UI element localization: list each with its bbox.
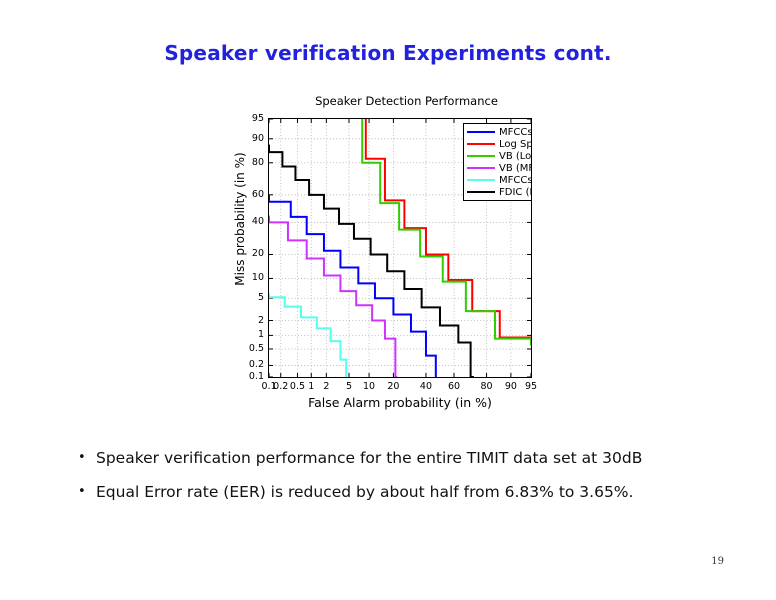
x-tick-label: 5 — [346, 381, 352, 392]
bullet-item-0: •Speaker verification performance for th… — [78, 448, 738, 468]
y-tick-label: 90 — [252, 134, 264, 144]
x-axis-tick-labels: 0.10.20.512510204060809095 — [268, 381, 532, 395]
legend-item-3: VB (MFCC) — [467, 162, 532, 174]
page-title: Speaker verification Experiments cont. — [0, 41, 776, 65]
bullet-text: Equal Error rate (EER) is reduced by abo… — [96, 482, 633, 502]
x-tick-label: 0.2 — [273, 381, 288, 392]
y-tick-label: 1 — [258, 330, 264, 340]
y-tick-label: 40 — [252, 217, 264, 227]
x-tick-label: 2 — [323, 381, 329, 392]
legend-color-swatch — [467, 143, 495, 145]
y-tick-label: 80 — [252, 158, 264, 168]
legend-color-swatch — [467, 131, 495, 133]
series-line-3 — [269, 215, 397, 377]
x-tick-label: 1 — [308, 381, 314, 392]
legend-color-swatch — [467, 179, 495, 181]
x-axis-title: False Alarm probability (in %) — [268, 395, 532, 410]
x-tick-label: 60 — [448, 381, 460, 392]
legend-item-label: MFCCs (Clean) — [499, 175, 532, 186]
bullet-list: •Speaker verification performance for th… — [78, 448, 738, 516]
x-tick-label: 40 — [420, 381, 432, 392]
chart-title: Speaker Detection Performance — [268, 94, 545, 108]
y-tick-label: 0.5 — [249, 344, 264, 354]
chart-legend: MFCCsLog SpectraVB (Log Spectra)VB (MFCC… — [463, 123, 532, 201]
y-tick-label: 2 — [258, 316, 264, 326]
legend-item-label: Log Spectra — [499, 139, 532, 150]
legend-item-4: MFCCs (Clean) — [467, 174, 532, 186]
y-tick-label: 0.2 — [249, 360, 264, 370]
legend-item-2: VB (Log Spectra) — [467, 150, 532, 162]
y-tick-label: 95 — [252, 114, 264, 124]
y-axis-tick-labels: 959080604020105210.50.20.1 — [229, 118, 264, 378]
x-tick-label: 10 — [363, 381, 375, 392]
page-number: 19 — [711, 556, 724, 567]
legend-item-0: MFCCs — [467, 126, 532, 138]
bullet-text: Speaker verification performance for the… — [96, 448, 642, 468]
legend-item-label: FDIC (MFCC) — [499, 187, 532, 198]
x-tick-label: 95 — [525, 381, 537, 392]
legend-item-1: Log Spectra — [467, 138, 532, 150]
legend-item-label: VB (MFCC) — [499, 163, 532, 174]
legend-item-5: FDIC (MFCC) — [467, 186, 532, 198]
x-tick-label: 0.5 — [290, 381, 305, 392]
bullet-item-1: •Equal Error rate (EER) is reduced by ab… — [78, 482, 738, 502]
x-tick-label: 80 — [481, 381, 493, 392]
legend-item-label: VB (Log Spectra) — [499, 151, 532, 162]
y-tick-label: 60 — [252, 190, 264, 200]
y-tick-label: 20 — [252, 249, 264, 259]
legend-color-swatch — [467, 191, 495, 193]
y-tick-label: 5 — [258, 293, 264, 303]
x-tick-label: 90 — [505, 381, 517, 392]
y-tick-label: 10 — [252, 273, 264, 283]
legend-item-label: MFCCs — [499, 127, 532, 138]
x-tick-label: 20 — [387, 381, 399, 392]
legend-color-swatch — [467, 155, 495, 157]
bullet-marker-icon: • — [78, 448, 96, 468]
bullet-marker-icon: • — [78, 482, 96, 502]
legend-color-swatch — [467, 167, 495, 169]
det-curve-figure: Speaker Detection Performance Miss proba… — [215, 92, 545, 412]
plot-area: MFCCsLog SpectraVB (Log Spectra)VB (MFCC… — [268, 118, 532, 378]
